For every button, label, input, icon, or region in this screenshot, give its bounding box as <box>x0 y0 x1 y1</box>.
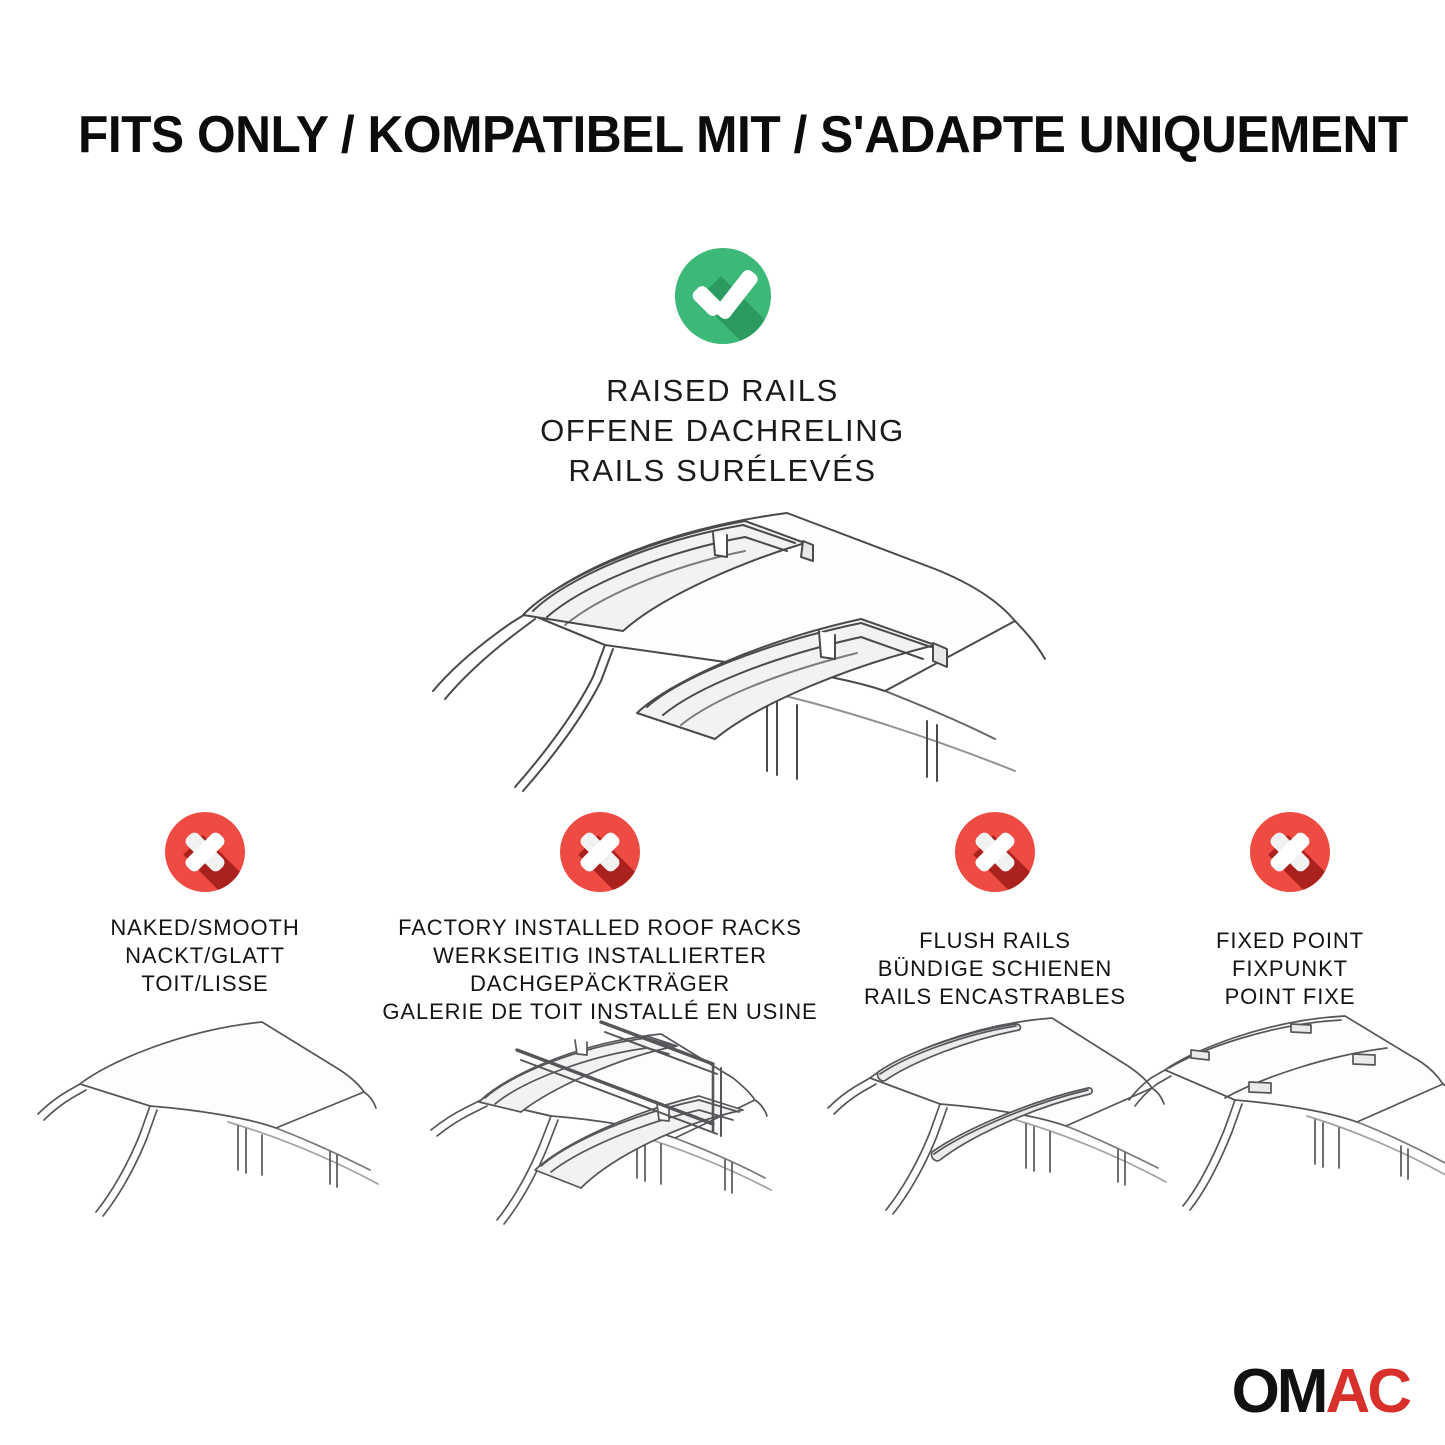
x-glyph <box>560 812 640 892</box>
label-line-fr: RAILS ENCASTRABLES <box>830 983 1160 1011</box>
compatible-labels: RAISED RAILS OFFENE DACHRELING RAILS SUR… <box>0 371 1445 491</box>
x-circle-icon <box>165 812 245 892</box>
incompatible-item-naked-smooth: NAKED/SMOOTH NACKT/GLATT TOIT/LISSE <box>40 812 370 998</box>
incompatible-labels: FACTORY INSTALLED ROOF RACKS WERKSEITIG … <box>370 914 830 1026</box>
incompatible-labels: FIXED POINT FIXPUNKT POINT FIXE <box>1140 927 1440 1011</box>
incompatible-item-fixed-point: FIXED POINT FIXPUNKT POINT FIXE <box>1140 812 1440 1011</box>
label-line-fr: POINT FIXE <box>1140 983 1440 1011</box>
x-glyph <box>955 812 1035 892</box>
incompatible-item-factory-roof-racks: FACTORY INSTALLED ROOF RACKS WERKSEITIG … <box>370 812 830 1026</box>
x-glyph <box>1250 812 1330 892</box>
compatible-label-fr: RAILS SURÉLEVÉS <box>0 451 1445 491</box>
car-roof-flush-rails-illustration <box>820 1012 1170 1242</box>
incompatible-labels: NAKED/SMOOTH NACKT/GLATT TOIT/LISSE <box>40 914 370 998</box>
label-line-en: FACTORY INSTALLED ROOF RACKS <box>370 914 830 942</box>
label-line-en: FIXED POINT <box>1140 927 1440 955</box>
compatible-label-en: RAISED RAILS <box>0 371 1445 411</box>
omac-logo: OMAC <box>1232 1361 1409 1423</box>
label-line-de: BÜNDIGE SCHIENEN <box>830 955 1160 983</box>
car-roof-factory-roof-racks-illustration <box>425 1012 775 1252</box>
label-line-de-2: DACHGEPÄCKTRÄGER <box>370 970 830 998</box>
car-roof-naked-smooth-illustration <box>30 1012 380 1242</box>
logo-text-black: OM <box>1232 1357 1326 1426</box>
car-roof-raised-rails-illustration <box>415 495 1055 795</box>
incompatible-item-flush-rails: FLUSH RAILS BÜNDIGE SCHIENEN RAILS ENCAS… <box>830 812 1160 1011</box>
label-line-en: FLUSH RAILS <box>830 927 1160 955</box>
x-circle-icon <box>1250 812 1330 892</box>
label-line-en: NAKED/SMOOTH <box>40 914 370 942</box>
label-line-de: NACKT/GLATT <box>40 942 370 970</box>
car-roof-fixed-point-illustration <box>1125 1012 1445 1242</box>
label-line-fr: TOIT/LISSE <box>40 970 370 998</box>
incompatible-labels: FLUSH RAILS BÜNDIGE SCHIENEN RAILS ENCAS… <box>830 927 1160 1011</box>
incompatible-row: NAKED/SMOOTH NACKT/GLATT TOIT/LISSE <box>0 812 1445 1232</box>
label-line-de-1: WERKSEITIG INSTALLIERTER <box>370 942 830 970</box>
fitment-infographic: FITS ONLY / KOMPATIBEL MIT / S'ADAPTE UN… <box>0 0 1445 1445</box>
check-circle-icon <box>675 248 771 344</box>
x-circle-icon <box>955 812 1035 892</box>
compatible-label-de: OFFENE DACHRELING <box>0 411 1445 451</box>
x-glyph <box>165 812 245 892</box>
label-line-de: FIXPUNKT <box>1140 955 1440 983</box>
page-title: FITS ONLY / KOMPATIBEL MIT / S'ADAPTE UN… <box>78 104 1320 166</box>
logo-text-red: AC <box>1325 1357 1409 1426</box>
check-glyph <box>697 273 750 301</box>
compatible-section: RAISED RAILS OFFENE DACHRELING RAILS SUR… <box>0 248 1445 491</box>
x-circle-icon <box>560 812 640 892</box>
